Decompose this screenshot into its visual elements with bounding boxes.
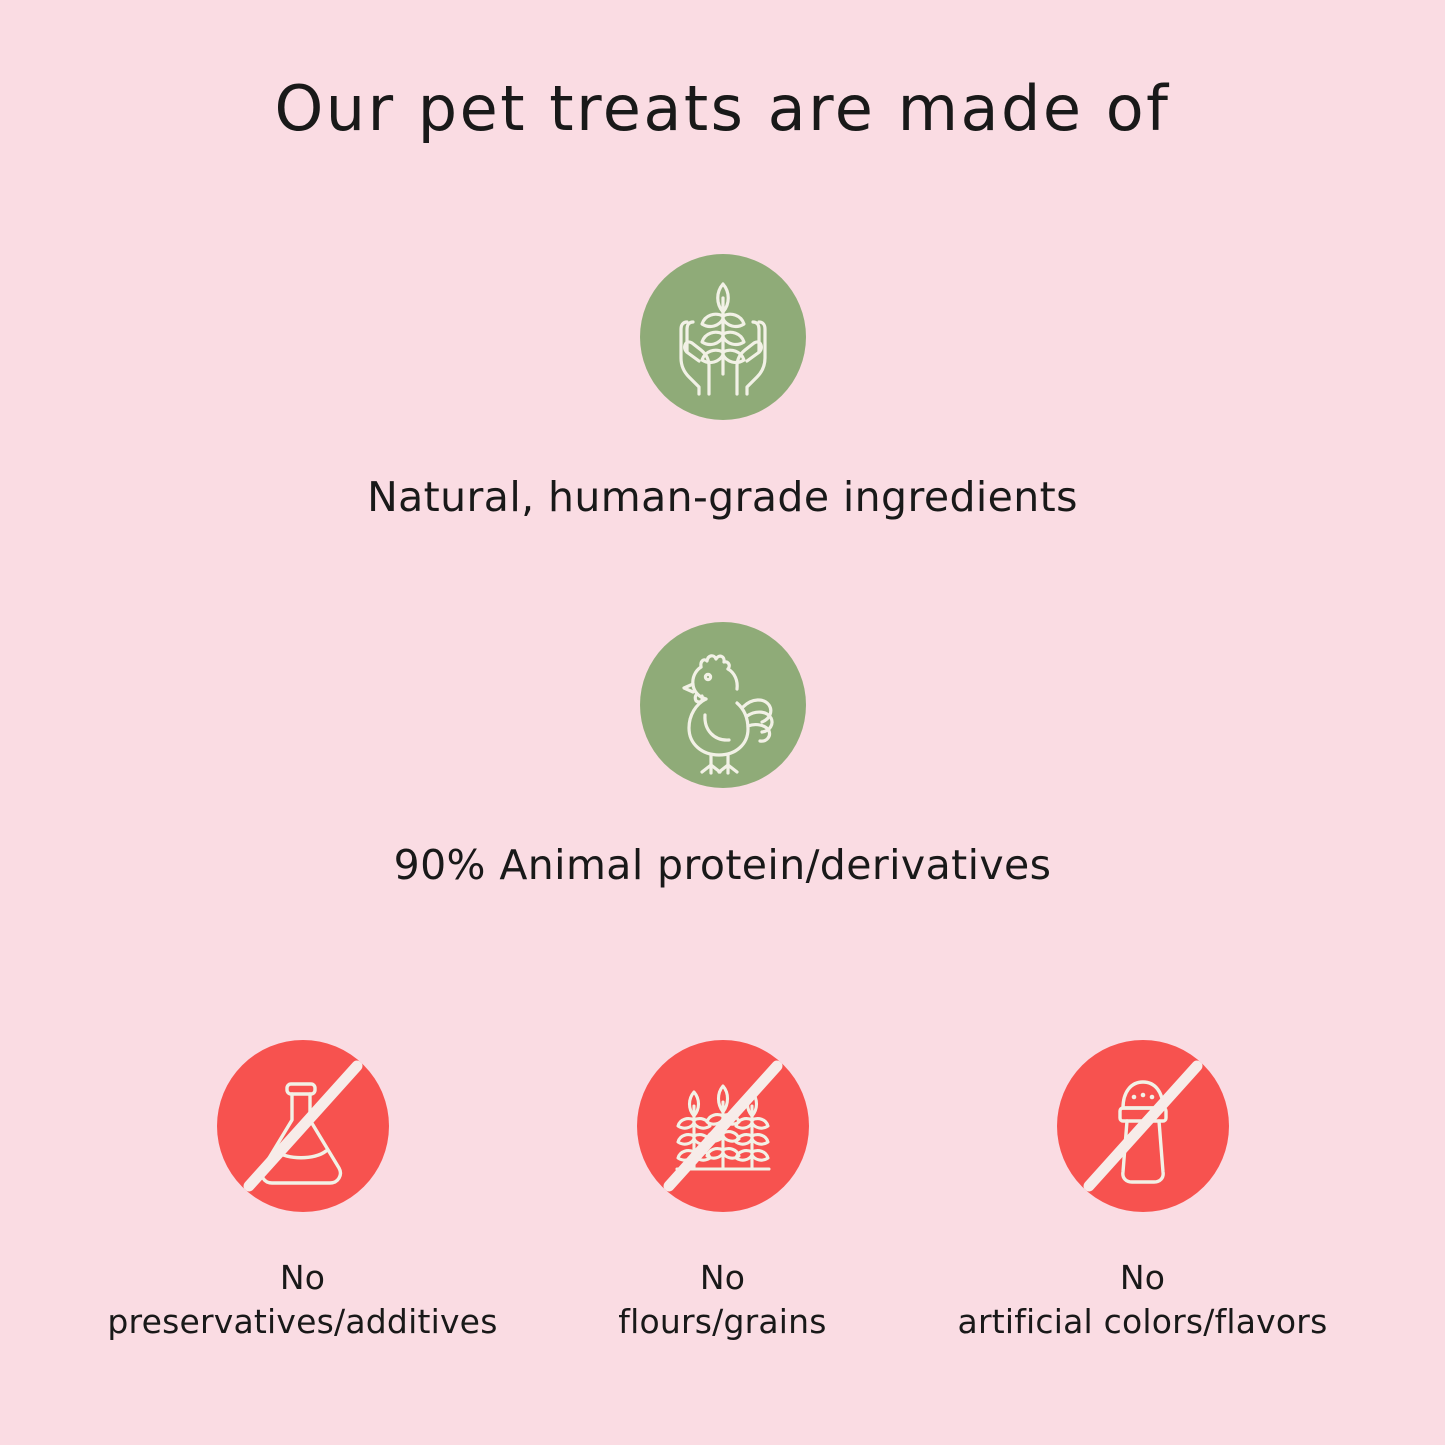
page-title: Our pet treats are made of [0, 76, 1445, 141]
exclusion-label-line2: flours/grains [513, 1300, 933, 1344]
exclusion-label-flours-grains: No flours/grains [513, 1256, 933, 1344]
exclusion-label-artificial-colors: No artificial colors/flavors [933, 1256, 1353, 1344]
infographic-poster: Our pet treats are made of [0, 0, 1445, 1445]
no-wheat-icon [637, 1040, 809, 1212]
exclusion-artificial-colors: No artificial colors/flavors [933, 1040, 1353, 1344]
feature-label-natural-ingredients: Natural, human-grade ingredients [0, 473, 1445, 521]
badge-no-preservatives [217, 1040, 389, 1212]
exclusion-label-line1: No [933, 1256, 1353, 1300]
exclusion-label-line2: preservatives/additives [93, 1300, 513, 1344]
badge-animal-protein [640, 622, 806, 788]
exclusions-row: No preservatives/additives [0, 1040, 1445, 1344]
exclusion-label-line1: No [513, 1256, 933, 1300]
feature-animal-protein: 90% Animal protein/derivatives [0, 622, 1445, 889]
exclusion-label-preservatives: No preservatives/additives [93, 1256, 513, 1344]
no-salt-shaker-icon [1057, 1040, 1229, 1212]
chicken-icon [640, 622, 806, 788]
exclusion-flours-grains: No flours/grains [513, 1040, 933, 1344]
exclusion-label-line2: artificial colors/flavors [933, 1300, 1353, 1344]
no-flask-icon [217, 1040, 389, 1212]
badge-natural-ingredients [640, 254, 806, 420]
badge-no-flours-grains [637, 1040, 809, 1212]
badge-no-artificial-colors [1057, 1040, 1229, 1212]
feature-natural-ingredients: Natural, human-grade ingredients [0, 254, 1445, 521]
exclusion-preservatives: No preservatives/additives [93, 1040, 513, 1344]
hands-holding-wheat-icon [640, 254, 806, 420]
exclusion-label-line1: No [93, 1256, 513, 1300]
feature-label-animal-protein: 90% Animal protein/derivatives [0, 841, 1445, 889]
